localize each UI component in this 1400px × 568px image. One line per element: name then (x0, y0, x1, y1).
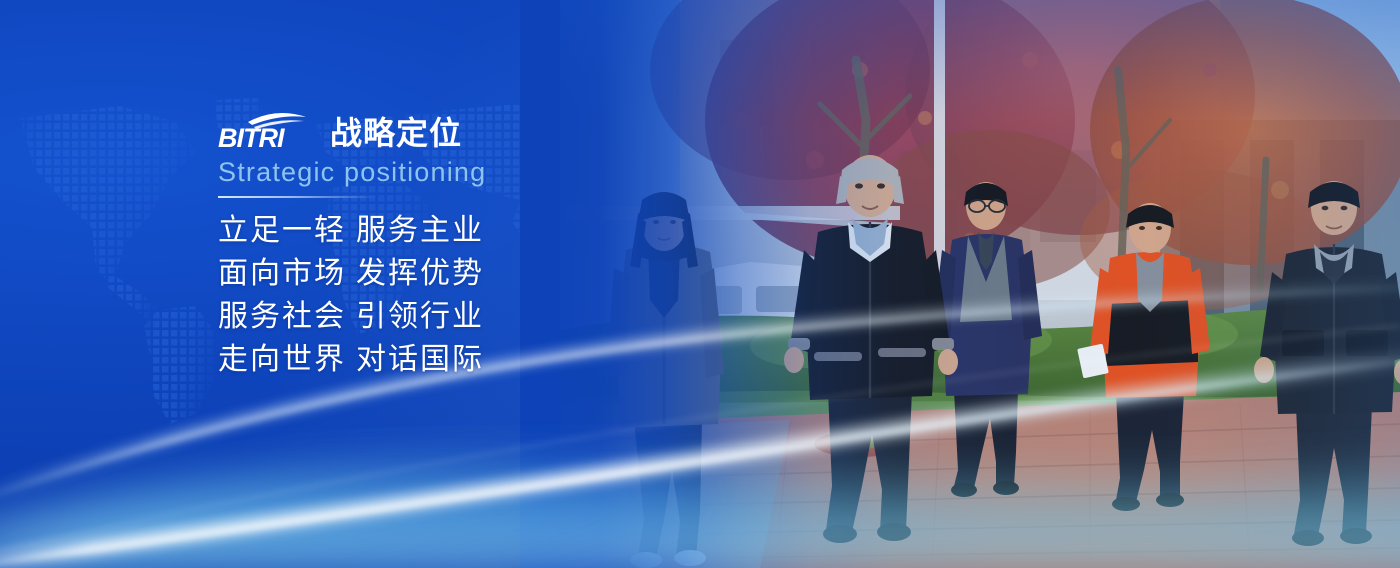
slogan-right: 对话国际 (356, 345, 484, 375)
slogan-line: 服务社会 引领行业 (218, 302, 638, 332)
title-english: Strategic positioning (218, 159, 638, 186)
slogan-left: 立足一轻 (218, 216, 356, 246)
slogan-right: 引领行业 (356, 302, 484, 332)
bitri-logo[interactable]: BITRI (218, 108, 316, 152)
slogan-right: 发挥优势 (356, 259, 484, 289)
campus-photo (560, 0, 1400, 568)
title-underline (218, 196, 376, 198)
slogan-right: 服务主业 (356, 216, 484, 246)
title-chinese: 战略定位 (330, 117, 462, 152)
slogan-list: 立足一轻 服务主业 面向市场 发挥优势 服务社会 引领行业 走向世界 对话国际 (218, 216, 638, 375)
slogan-line: 走向世界 对话国际 (218, 345, 638, 375)
strategic-positioning-banner: BITRI 战略定位 Strategic positioning 立足一轻 服务… (0, 0, 1400, 568)
slogan-left: 面向市场 (218, 259, 356, 289)
slogan-left: 走向世界 (218, 345, 356, 375)
slogan-left: 服务社会 (218, 302, 356, 332)
slogan-line: 面向市场 发挥优势 (218, 259, 638, 289)
title-row: BITRI 战略定位 (218, 106, 638, 152)
slogan-line: 立足一轻 服务主业 (218, 216, 638, 246)
headline-block: BITRI 战略定位 Strategic positioning 立足一轻 服务… (218, 106, 638, 375)
photo-scene (560, 0, 1400, 568)
svg-text:BITRI: BITRI (218, 123, 285, 152)
